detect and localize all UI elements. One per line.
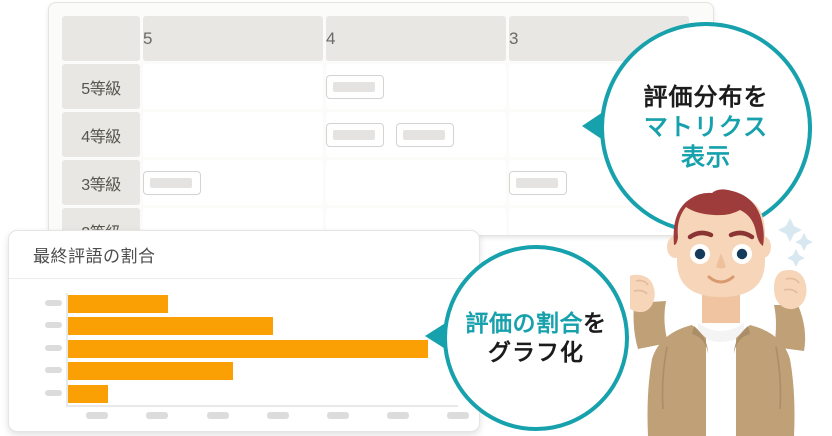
bar[interactable] [68,385,108,403]
bar-row [68,383,458,405]
x-axis-tick [327,412,349,419]
bar-chart [66,293,458,407]
chart-title: 最終評語の割合 [33,242,156,267]
row-header-grade-3: 3等級 [62,160,140,205]
table-header-row: 5 4 3 [62,16,689,61]
employee-chip[interactable] [143,171,201,195]
bar[interactable] [68,340,428,358]
matrix-cell-r0c1[interactable] [326,64,506,109]
y-axis-tick [45,345,62,351]
employee-chip[interactable] [326,75,384,99]
matrix-cell-r2c1[interactable] [326,160,506,205]
chart-callout-bubble: 評価の割合を グラフ化 [443,245,629,431]
bar-row [68,315,458,337]
matrix-callout-line-1: 評価分布を [644,83,769,113]
bar[interactable] [68,295,168,313]
matrix-corner-cell [62,16,140,61]
y-axis-tick [45,322,62,328]
bar-row [68,293,458,315]
x-axis-tick [267,412,289,419]
employee-chip[interactable] [396,123,454,147]
chart-callout-line-1: 評価の割合を [466,309,607,338]
y-axis-tick [45,367,62,373]
matrix-cell-r1c0[interactable] [143,112,323,157]
x-axis-tick [86,412,108,419]
column-header-5: 5 [143,16,323,61]
matrix-cell-r0c0[interactable] [143,64,323,109]
y-axis-tick [45,390,62,396]
matrix-callout-line-2: マトリクス [644,113,768,143]
bar[interactable] [68,317,273,335]
matrix-cell-r1c1[interactable] [326,112,506,157]
final-rating-ratio-chart-panel: 最終評語の割合 [8,230,480,432]
x-axis-tick [207,412,229,419]
employee-chip[interactable] [326,123,384,147]
matrix-callout-line-3: 表示 [681,143,731,173]
table-row: 5等級 [62,64,689,109]
employee-chip[interactable] [509,171,567,195]
y-axis-tick [45,300,62,306]
chart-plot-area [9,279,479,430]
row-header-grade-5: 5等級 [62,64,140,109]
bar-row [68,338,458,360]
table-row: 3等級 [62,160,689,205]
x-axis-ticks [66,412,458,420]
chart-callout-line-1-dark: を [583,310,607,336]
x-axis-tick [447,412,469,419]
column-header-4: 4 [326,16,506,61]
sparkle-icon [778,218,813,267]
matrix-cell-r2c0[interactable] [143,160,323,205]
chart-callout-line-2: グラフ化 [488,338,584,367]
screenshot-stage: 5 4 3 5等級 4等級 [0,0,832,436]
bar-row [68,360,458,382]
row-header-grade-4: 4等級 [62,112,140,157]
chart-panel-header: 最終評語の割合 [9,231,479,279]
bar[interactable] [68,362,233,380]
chart-callout-line-1-teal: 評価の割合 [466,310,584,336]
cheering-businessman-illustration [630,185,832,436]
x-axis-tick [387,412,409,419]
x-axis-tick [146,412,168,419]
